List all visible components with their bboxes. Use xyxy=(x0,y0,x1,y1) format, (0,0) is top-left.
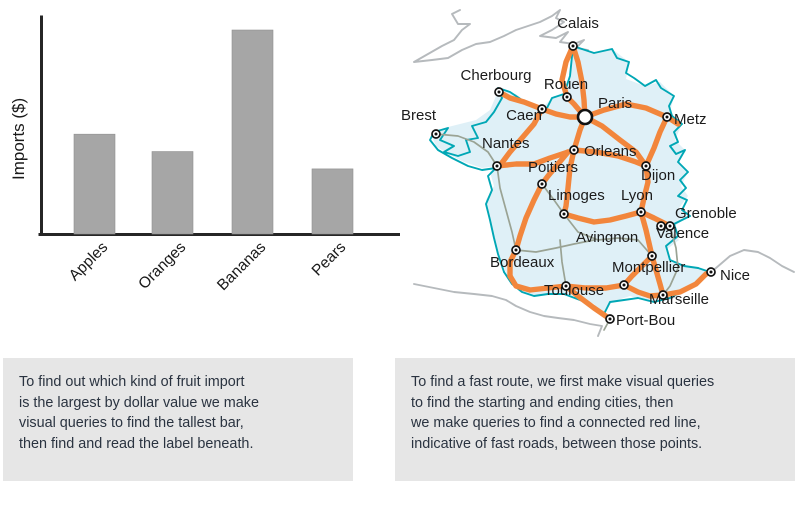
city-marker-core-bordeaux xyxy=(515,249,518,252)
city-marker-core-nice xyxy=(710,271,713,274)
city-label-calais: Calais xyxy=(557,15,599,32)
city-label-orleans: Orleans xyxy=(584,143,637,160)
city-label-rouen: Rouen xyxy=(544,76,588,93)
city-marker-core-lyon xyxy=(640,211,643,214)
map-panel: CalaisCherbourgRouenParisBrestCaenMetzNa… xyxy=(398,0,800,340)
bar-oranges xyxy=(152,152,193,234)
city-label-avingnon: Avingnon xyxy=(576,229,638,246)
caption-map: To find a fast route, we first make visu… xyxy=(395,358,795,481)
category-label-oranges: Oranges xyxy=(135,239,189,293)
city-marker-core-limoges xyxy=(563,213,566,216)
bar-chart-panel: Imports ($) ApplesOrangesBananasPears xyxy=(0,0,400,340)
bar-pears xyxy=(312,169,353,234)
city-marker-core-montpellier xyxy=(623,284,626,287)
city-marker-core-caen xyxy=(541,108,544,111)
category-label-pears: Pears xyxy=(309,239,350,280)
city-label-cherbourg: Cherbourg xyxy=(461,67,532,84)
city-label-toulouse: Toulouse xyxy=(544,282,604,299)
category-label-apples: Apples xyxy=(66,239,112,285)
category-labels-group: ApplesOrangesBananasPears xyxy=(66,239,350,294)
city-label-brest: Brest xyxy=(401,107,437,124)
city-marker-core-poitiers xyxy=(541,183,544,186)
france-map-svg: CalaisCherbourgRouenParisBrestCaenMetzNa… xyxy=(398,0,800,340)
city-marker-core-nantes xyxy=(496,165,499,168)
city-marker-core-dijon xyxy=(645,165,648,168)
city-marker-core-marseille xyxy=(662,294,665,297)
city-marker-core-valence xyxy=(660,225,663,228)
city-label-limoges: Limoges xyxy=(548,187,605,204)
city-label-poitiers: Poitiers xyxy=(528,159,578,176)
bar-chart-svg: Imports ($) ApplesOrangesBananasPears xyxy=(0,0,400,340)
bar-bananas xyxy=(232,30,273,234)
bar-apples xyxy=(74,134,115,234)
city-marker-core-avingnon xyxy=(651,255,654,258)
city-marker-core-orleans xyxy=(573,149,576,152)
bars-group xyxy=(74,30,353,234)
category-label-bananas: Bananas xyxy=(214,239,269,294)
city-marker-core-toulouse xyxy=(565,285,568,288)
y-axis-title: Imports ($) xyxy=(9,98,28,180)
city-label-marseille: Marseille xyxy=(649,291,709,308)
city-label-caen: Caen xyxy=(506,107,542,124)
city-label-nantes: Nantes xyxy=(482,135,530,152)
city-marker-core-brest xyxy=(435,133,438,136)
city-label-lyon: Lyon xyxy=(621,187,653,204)
city-marker-core-cherbourg xyxy=(498,91,501,94)
city-marker-core-rouen xyxy=(566,96,569,99)
city-marker-core-port-bou xyxy=(609,318,612,321)
city-label-nice: Nice xyxy=(720,267,750,284)
city-label-paris: Paris xyxy=(598,95,632,112)
city-label-bordeaux: Bordeaux xyxy=(490,254,555,271)
city-label-montpellier: Montpellier xyxy=(612,259,685,276)
city-marker-core-calais xyxy=(572,45,575,48)
caption-bar-chart: To find out which kind of fruit import i… xyxy=(3,358,353,481)
city-label-metz: Metz xyxy=(674,111,707,128)
city-marker-paris xyxy=(578,110,592,124)
city-label-grenoble: Grenoble xyxy=(675,205,737,222)
city-label-port-bou: Port-Bou xyxy=(616,312,675,329)
city-marker-core-metz xyxy=(666,116,669,119)
